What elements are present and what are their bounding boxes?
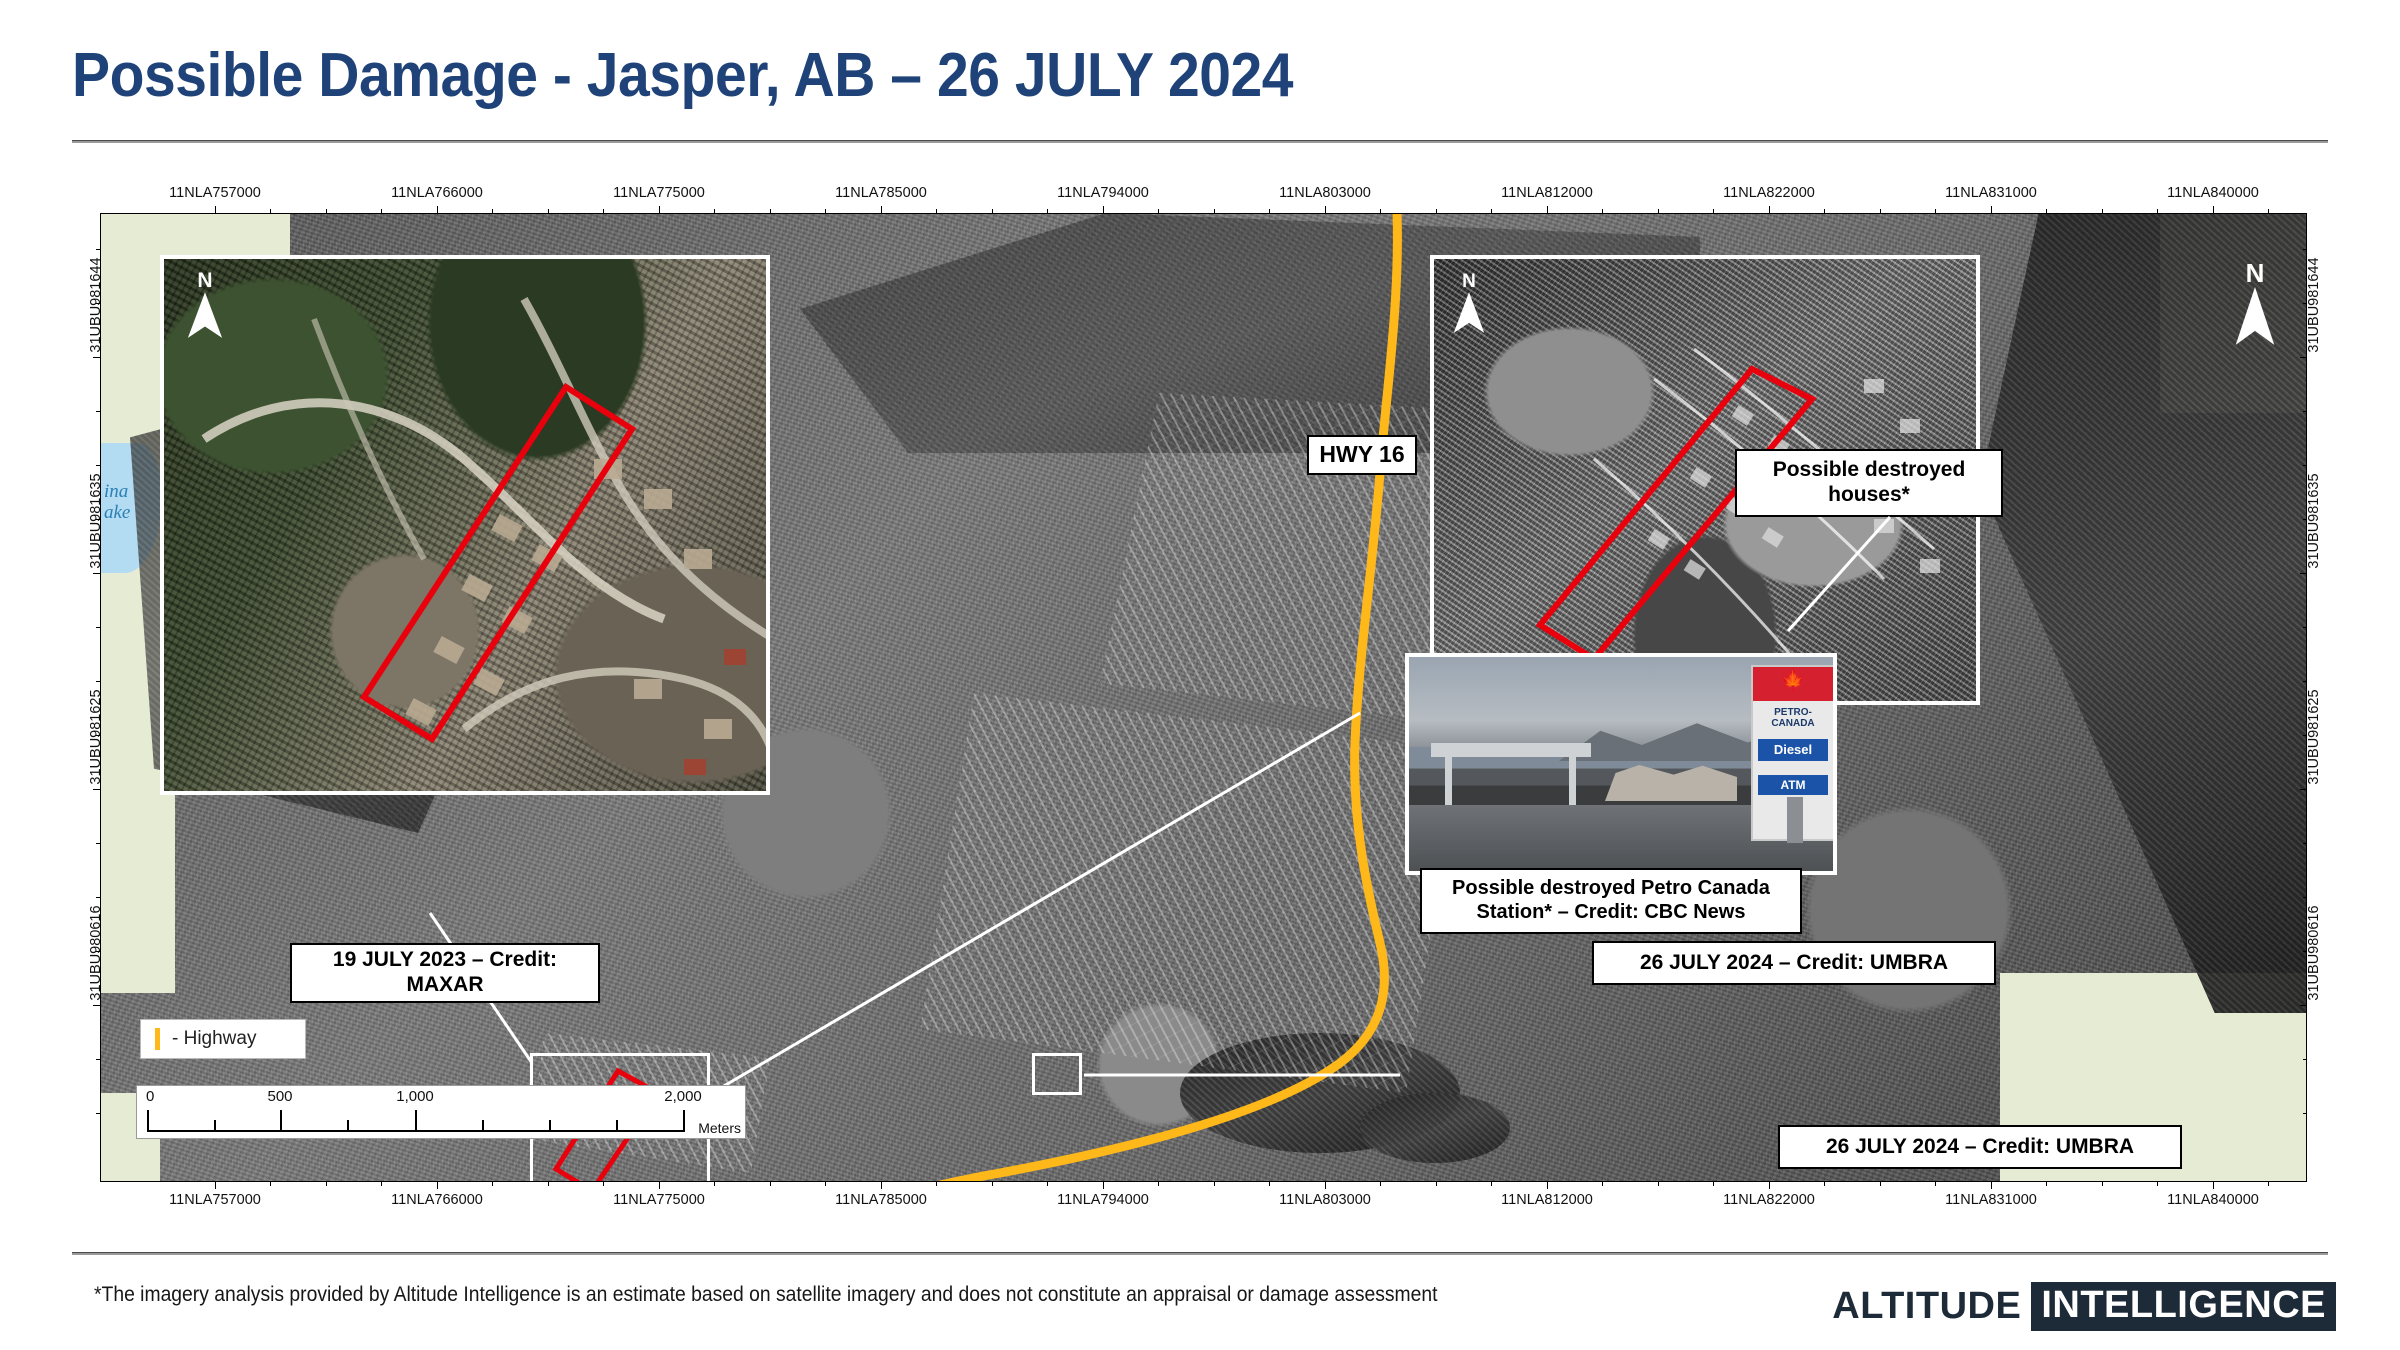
scalebar-tick (683, 1110, 685, 1132)
scalebar-tick (280, 1110, 282, 1132)
x-tick (714, 1182, 715, 1186)
x-tick (1103, 1182, 1104, 1189)
y-tick (2303, 681, 2307, 682)
x-tick (770, 1182, 771, 1186)
y-tick (2300, 1005, 2307, 1006)
x-tick-label: 11NLA766000 (391, 185, 483, 201)
x-tick (1602, 209, 1603, 213)
photo-canopy-post-left (1445, 757, 1452, 805)
x-tick-label: 11NLA803000 (1279, 1192, 1371, 1208)
hwy-16-label-text: HWY 16 (1319, 441, 1404, 468)
x-tick (1269, 1182, 1270, 1186)
y-tick-label: 31UBU981625 (88, 677, 104, 797)
north-letter: N (2232, 261, 2278, 285)
y-tick (96, 681, 100, 682)
x-tick (2213, 1182, 2214, 1189)
logo-intelligence-text: INTELLIGENCE (2031, 1282, 2336, 1331)
x-tick-label: 11NLA831000 (1945, 185, 2037, 201)
x-tick (2157, 1182, 2158, 1186)
y-tick (93, 1005, 100, 1006)
x-tick (1935, 209, 1936, 213)
y-tick (2303, 303, 2307, 304)
y-tick (96, 951, 100, 952)
y-tick (2300, 357, 2307, 358)
x-tick (992, 1182, 993, 1186)
north-arrow-main-map: N (2232, 261, 2278, 347)
x-tick (2102, 1182, 2103, 1186)
x-tick-label: 11NLA757000 (169, 185, 261, 201)
north-letter: N (1452, 273, 1486, 291)
x-tick (215, 1182, 216, 1189)
x-tick-label: 11NLA822000 (1723, 1192, 1815, 1208)
callout-hwy-16: HWY 16 (1307, 435, 1417, 475)
scalebar-label-0: 0 (146, 1088, 154, 1105)
x-tick (936, 209, 937, 213)
x-tick (1325, 206, 1326, 213)
x-tick (2213, 206, 2214, 213)
y-tick (2300, 789, 2307, 790)
x-tick-label: 11NLA840000 (2167, 1192, 2259, 1208)
sign-atm-badge: ATM (1758, 775, 1828, 795)
north-arrow-inset-umbra: N (1452, 273, 1486, 337)
scalebar-label-2000: 2,000 (664, 1088, 702, 1105)
y-tick (96, 303, 100, 304)
x-tick-label: 11NLA766000 (391, 1192, 483, 1208)
callout-umbra-inset-credit: 26 JULY 2024 – Credit: UMBRA (1592, 941, 1996, 985)
y-tick (2303, 897, 2307, 898)
x-tick (1547, 206, 1548, 213)
x-tick (1824, 209, 1825, 213)
x-tick (1991, 1182, 1992, 1189)
x-tick (437, 206, 438, 213)
y-tick (2303, 249, 2307, 250)
x-tick-label: 11NLA785000 (835, 185, 927, 201)
north-arrow-glyph (2232, 287, 2278, 347)
scalebar-label-1000: 1,000 (396, 1088, 434, 1105)
y-tick (2303, 1059, 2307, 1060)
x-tick (825, 1182, 826, 1186)
callout-umbra-main-credit-text: 26 JULY 2024 – Credit: UMBRA (1826, 1135, 2134, 1160)
x-tick (659, 206, 660, 213)
callout-maxar-credit: 19 JULY 2023 – Credit: MAXAR (290, 943, 600, 1003)
y-tick (2303, 411, 2307, 412)
x-tick (1436, 1182, 1437, 1186)
x-tick (492, 209, 493, 213)
x-tick (2268, 1182, 2269, 1186)
scalebar-tick (549, 1120, 551, 1132)
x-tick (1658, 1182, 1659, 1186)
y-tick (96, 411, 100, 412)
y-tick (2303, 1113, 2307, 1114)
scalebar-label-500: 500 (267, 1088, 292, 1105)
y-tick (96, 627, 100, 628)
y-tick (96, 465, 100, 466)
x-tick (1047, 209, 1048, 213)
x-tick (381, 209, 382, 213)
y-tick (2303, 519, 2307, 520)
y-tick (2303, 951, 2307, 952)
y-tick (96, 1113, 100, 1114)
y-tick (96, 249, 100, 250)
title-bar: Possible Damage - Jasper, AB – 26 JULY 2… (0, 0, 2400, 160)
photo-gas-station-canopy (1431, 743, 1591, 757)
x-tick (1214, 1182, 1215, 1186)
callout-umbra-inset-credit-text: 26 JULY 2024 – Credit: UMBRA (1640, 951, 1948, 976)
inset-cbc-photo[interactable]: 🍁 PETRO-CANADA Diesel ATM (1405, 653, 1837, 875)
x-tick (659, 1182, 660, 1189)
x-tick (1713, 1182, 1714, 1186)
x-tick (1380, 209, 1381, 213)
callout-umbra-main-credit-outer: 26 JULY 2024 – Credit: UMBRA (1778, 1125, 2182, 1169)
x-tick (1325, 1182, 1326, 1189)
y-tick (93, 357, 100, 358)
north-arrow-glyph (1452, 292, 1486, 335)
x-tick-label: 11NLA775000 (613, 1192, 705, 1208)
x-tick (1880, 1182, 1881, 1186)
inset-maxar-2023[interactable]: N (160, 255, 770, 795)
y-tick (96, 843, 100, 844)
callout-petro-canada-text: Possible destroyed Petro Canada Station*… (1422, 877, 1800, 924)
x-tick (1824, 1182, 1825, 1186)
x-tick (1491, 1182, 1492, 1186)
x-tick (2046, 1182, 2047, 1186)
y-tick-label: 31UBU981635 (2306, 461, 2322, 581)
x-tick (1158, 1182, 1159, 1186)
x-tick (1158, 209, 1159, 213)
x-tick (548, 209, 549, 213)
x-tick (1769, 1182, 1770, 1189)
altitude-intelligence-logo: ALTITUDE INTELLIGENCE (1832, 1282, 2336, 1331)
y-tick (96, 1059, 100, 1060)
x-tick (2046, 209, 2047, 213)
x-tick (881, 1182, 882, 1189)
x-tick (1380, 1182, 1381, 1186)
north-arrow-inset-maxar: N (186, 271, 224, 341)
y-tick-label: 31UBU981644 (2306, 245, 2322, 365)
y-tick (2303, 465, 2307, 466)
x-tick (881, 206, 882, 213)
scalebar-tick (214, 1120, 216, 1132)
x-tick-label: 11NLA840000 (2167, 185, 2259, 201)
map-legend: - Highway (140, 1019, 306, 1059)
leader-destroyed-houses (1730, 513, 1970, 663)
sign-brand-text: PETRO-CANADA (1753, 707, 1833, 729)
x-tick-label: 11NLA831000 (1945, 1192, 2037, 1208)
x-tick (603, 1182, 604, 1186)
x-tick (381, 1182, 382, 1186)
callout-destroyed-houses: Possible destroyed houses* (1735, 449, 2003, 517)
map-frame-bottom (100, 1181, 2306, 1182)
map-frame-top (100, 213, 2306, 214)
x-tick (714, 209, 715, 213)
x-tick (1269, 209, 1270, 213)
x-tick (1602, 1182, 1603, 1186)
x-tick (2157, 209, 2158, 213)
y-tick (93, 573, 100, 574)
x-tick (1991, 206, 1992, 213)
scalebar-tick (147, 1110, 149, 1132)
y-tick (96, 735, 100, 736)
x-tick (1769, 206, 1770, 213)
scalebar-units: Meters (698, 1120, 741, 1136)
x-tick (603, 209, 604, 213)
y-tick-label: 31UBU981635 (88, 461, 104, 581)
y-tick-label: 31UBU980616 (2306, 893, 2322, 1013)
maple-leaf-icon: 🍁 (1753, 671, 1833, 691)
scalebar-tick (347, 1120, 349, 1132)
x-tick (215, 206, 216, 213)
x-tick (1658, 209, 1659, 213)
photo-damaged-building (1605, 761, 1737, 801)
footer-divider (72, 1252, 2328, 1255)
page-title: Possible Damage - Jasper, AB – 26 JULY 2… (72, 40, 1293, 111)
x-tick (492, 1182, 493, 1186)
photo-canopy-post-right (1569, 757, 1576, 805)
x-tick (1103, 206, 1104, 213)
y-tick (2300, 573, 2307, 574)
legend-highway-swatch (155, 1028, 160, 1050)
x-tick-label: 11NLA775000 (613, 185, 705, 201)
scalebar-tick (482, 1120, 484, 1132)
x-tick (1880, 209, 1881, 213)
x-tick (270, 1182, 271, 1186)
x-tick (936, 1182, 937, 1186)
scalebar-tick (415, 1110, 417, 1132)
x-tick-label: 11NLA757000 (169, 1192, 261, 1208)
x-tick (1214, 209, 1215, 213)
x-tick (1935, 1182, 1936, 1186)
x-tick-label: 11NLA794000 (1057, 1192, 1149, 1208)
callout-destroyed-houses-text: Possible destroyed houses* (1737, 458, 2001, 508)
x-tick (548, 1182, 549, 1186)
y-tick (2303, 843, 2307, 844)
x-tick (437, 1182, 438, 1189)
x-tick-label: 11NLA785000 (835, 1192, 927, 1208)
x-tick (770, 209, 771, 213)
sign-diesel-badge: Diesel (1758, 739, 1828, 761)
x-tick (1713, 209, 1714, 213)
sign-post (1787, 797, 1803, 843)
footnote-disclaimer: *The imagery analysis provided by Altitu… (94, 1283, 1438, 1307)
callout-maxar-credit-text: 19 JULY 2023 – Credit: MAXAR (292, 948, 598, 998)
callout-petro-canada: Possible destroyed Petro Canada Station*… (1420, 868, 1802, 934)
y-tick-label: 31UBU980616 (88, 893, 104, 1013)
x-tick (1436, 209, 1437, 213)
x-tick (270, 209, 271, 213)
x-tick (825, 209, 826, 213)
x-tick (2102, 209, 2103, 213)
title-divider (72, 140, 2328, 143)
y-tick (96, 519, 100, 520)
photo-petro-canada-sign: 🍁 PETRO-CANADA Diesel ATM (1751, 665, 1835, 841)
y-tick (2303, 627, 2307, 628)
x-tick (326, 1182, 327, 1186)
main-map-canvas[interactable]: ina ake (100, 213, 2306, 1181)
y-tick (96, 897, 100, 898)
x-tick (2268, 209, 2269, 213)
inset-maxar-aoi-polygon (164, 259, 766, 791)
north-arrow-glyph (186, 292, 224, 340)
y-tick-label: 31UBU981625 (2306, 677, 2322, 797)
y-tick (2303, 735, 2307, 736)
map-scalebar: 0 500 1,000 2,000 Meters (136, 1085, 746, 1139)
x-tick (1491, 209, 1492, 213)
scalebar-tick (616, 1120, 618, 1132)
north-letter: N (186, 271, 224, 291)
x-tick-label: 11NLA794000 (1057, 185, 1149, 201)
legend-highway-label: - Highway (172, 1028, 256, 1050)
x-tick (1047, 1182, 1048, 1186)
x-tick-label: 11NLA812000 (1501, 185, 1593, 201)
x-tick-label: 11NLA803000 (1279, 185, 1371, 201)
x-tick-label: 11NLA822000 (1723, 185, 1815, 201)
x-tick (992, 209, 993, 213)
logo-altitude-text: ALTITUDE (1832, 1285, 2021, 1328)
x-tick (1547, 1182, 1548, 1189)
y-tick-label: 31UBU981644 (88, 245, 104, 365)
y-tick (93, 789, 100, 790)
map-figure: ina ake (78, 185, 2328, 1210)
x-tick (326, 209, 327, 213)
x-tick-label: 11NLA812000 (1501, 1192, 1593, 1208)
